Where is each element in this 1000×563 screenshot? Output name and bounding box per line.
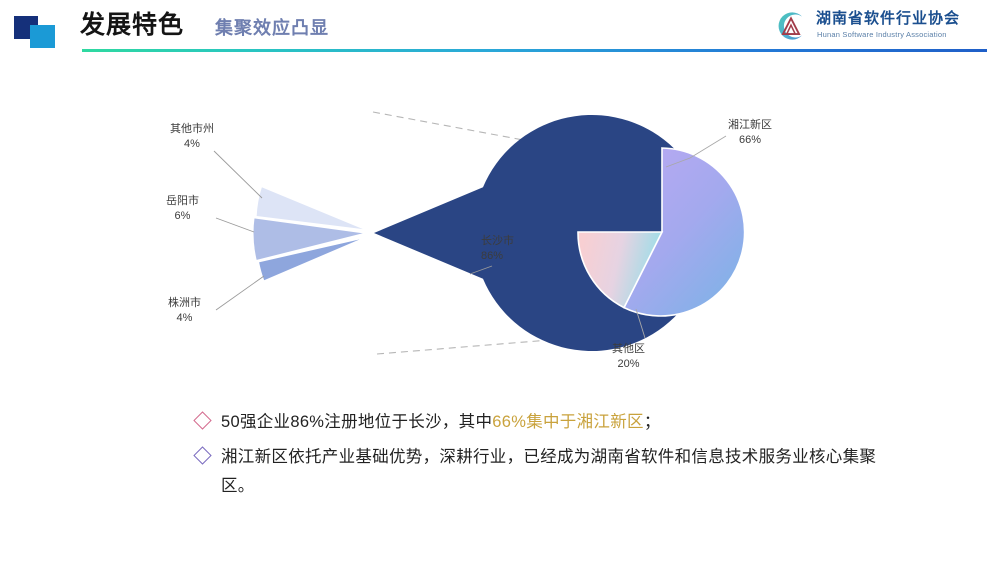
pie-label-name: 长沙市	[481, 234, 514, 249]
bullet-item-2: 湘江新区依托产业基础优势，深耕行业，已经成为湖南省软件和信息技术服务业核心集聚区…	[196, 443, 896, 501]
pie-label-name: 其他市州	[170, 122, 214, 137]
page-subtitle: 集聚效应凸显	[215, 19, 329, 37]
association-name-cn: 湖南省软件行业协会	[816, 10, 960, 28]
pie-label-value: 66%	[728, 133, 772, 148]
pie-label-value: 6%	[166, 209, 199, 224]
page-title: 发展特色	[80, 13, 184, 38]
bullet-text-1: 50强企业86%注册地位于长沙，其中66%集中于湘江新区；	[221, 408, 661, 437]
pie-label-value: 86%	[481, 249, 514, 264]
square-light-icon	[30, 25, 55, 48]
bullet-segment-plain: 50强企业86%注册地位于长沙，其中	[221, 413, 492, 431]
pie-label-other-cities: 其他市州 4%	[170, 122, 214, 152]
diamond-outline-icon	[193, 411, 211, 429]
pie-label-value: 4%	[168, 311, 201, 326]
pie-label-xiangjiang: 湘江新区 66%	[728, 118, 772, 148]
slide-root: { "header": { "title_main": "发展特色", "tit…	[0, 0, 1000, 563]
bullet-segment-highlight: 66%集中于湘江新区	[492, 413, 644, 431]
pie-label-changsha: 长沙市 86%	[481, 234, 514, 264]
bullet-list: 50强企业86%注册地位于长沙，其中66%集中于湘江新区； 湘江新区依托产业基础…	[196, 408, 896, 507]
brand-logo	[14, 16, 66, 48]
bullet-text-2: 湘江新区依托产业基础优势，深耕行业，已经成为湖南省软件和信息技术服务业核心集聚区…	[221, 443, 896, 501]
association-logo: 湖南省软件行业协会 Hunan Software Industry Associ…	[774, 8, 986, 46]
pie-label-yueyang: 岳阳市 6%	[166, 194, 199, 224]
header-divider	[82, 49, 987, 52]
pie-label-name: 株洲市	[168, 296, 201, 311]
pie-label-name: 其他区	[612, 342, 645, 357]
pie-label-name: 岳阳市	[166, 194, 199, 209]
slide-header: 发展特色 集聚效应凸显 湖南省软件行业协会 Hunan Software Ind…	[0, 0, 1000, 60]
association-name-en: Hunan Software Industry Association	[817, 30, 947, 39]
pie-label-zhuzhou: 株洲市 4%	[168, 296, 201, 326]
chart-area: 其他市州 4% 岳阳市 6% 株洲市 4% 长沙市 86% 湘江新区 66% 其…	[0, 66, 1000, 396]
pie-label-other-zone: 其他区 20%	[612, 342, 645, 372]
pie-charts-svg	[0, 66, 1000, 396]
pie-label-value: 4%	[170, 137, 214, 152]
diamond-outline-icon	[193, 446, 211, 464]
pie-label-value: 20%	[612, 357, 645, 372]
bullet-item-1: 50强企业86%注册地位于长沙，其中66%集中于湘江新区；	[196, 408, 896, 437]
association-emblem-icon	[774, 9, 808, 43]
bullet-segment-tail: ；	[644, 413, 661, 431]
pie-label-name: 湘江新区	[728, 118, 772, 133]
